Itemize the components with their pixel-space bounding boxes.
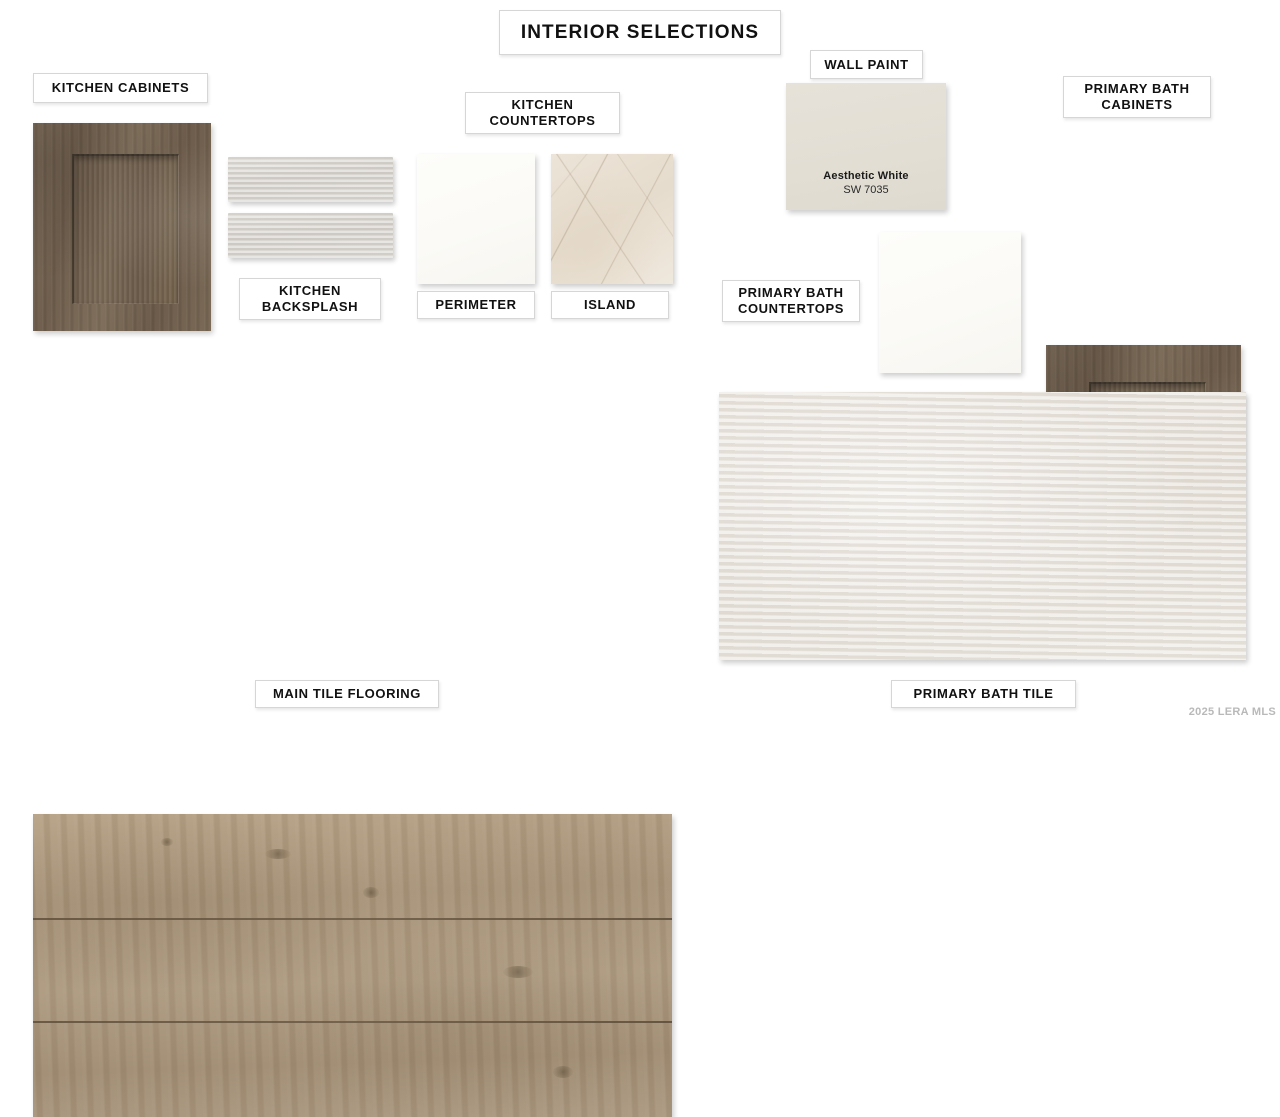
label-kitchen-countertops-line2: COUNTERTOPS <box>489 113 595 129</box>
wood-knot-4 <box>265 849 291 859</box>
label-main-tile-flooring: MAIN TILE FLOORING <box>255 680 439 708</box>
swatch-kitchen-cabinets <box>33 123 211 331</box>
label-island: ISLAND <box>551 291 669 319</box>
paint-color-name: Aesthetic White <box>823 170 909 182</box>
page-title: INTERIOR SELECTIONS <box>499 10 781 55</box>
label-primary-bath-countertops: PRIMARY BATH COUNTERTOPS <box>722 280 860 322</box>
swatch-kitchen-countertop-perimeter <box>417 154 535 284</box>
wood-knot-1 <box>363 887 379 898</box>
wood-knot-5 <box>503 966 533 978</box>
label-primary-bath-cabinets-line2: CABINETS <box>1101 97 1172 113</box>
swatch-primary-bath-countertop <box>879 232 1021 373</box>
label-kitchen-countertops-line1: KITCHEN <box>512 97 574 113</box>
label-primary-bath-cabinets: PRIMARY BATH CABINETS <box>1063 76 1211 118</box>
swatch-primary-bath-tile <box>719 392 1246 660</box>
mls-watermark: 2025 LERA MLS <box>1189 706 1276 718</box>
swatch-kitchen-countertop-island <box>551 154 673 284</box>
label-primary-bath-countertops-line2: COUNTERTOPS <box>738 301 844 317</box>
label-wall-paint: WALL PAINT <box>810 50 923 79</box>
label-primary-bath-cabinets-line1: PRIMARY BATH <box>1084 81 1189 97</box>
swatch-main-tile-flooring <box>33 814 672 1117</box>
label-perimeter: PERIMETER <box>417 291 535 319</box>
label-primary-bath-countertops-line1: PRIMARY BATH <box>738 285 843 301</box>
plank-seam-1 <box>33 918 672 920</box>
label-kitchen-cabinets: KITCHEN CABINETS <box>33 73 208 103</box>
swatch-kitchen-backsplash-bottom <box>228 213 393 258</box>
swatch-kitchen-backsplash-top <box>228 157 393 202</box>
label-kitchen-backsplash: KITCHEN BACKSPLASH <box>239 278 381 320</box>
label-kitchen-backsplash-line1: KITCHEN <box>279 283 341 299</box>
label-kitchen-backsplash-line2: BACKSPLASH <box>262 299 358 315</box>
plank-seam-2 <box>33 1021 672 1023</box>
paint-color-code: SW 7035 <box>843 184 888 196</box>
label-kitchen-countertops: KITCHEN COUNTERTOPS <box>465 92 620 134</box>
swatch-wall-paint: Aesthetic White SW 7035 <box>786 83 946 210</box>
wood-knot-3 <box>553 1066 573 1078</box>
interior-selections-board: INTERIOR SELECTIONS KITCHEN CABINETS KIT… <box>0 0 1280 720</box>
label-primary-bath-tile: PRIMARY BATH TILE <box>891 680 1076 708</box>
wood-knot-2 <box>161 838 173 846</box>
